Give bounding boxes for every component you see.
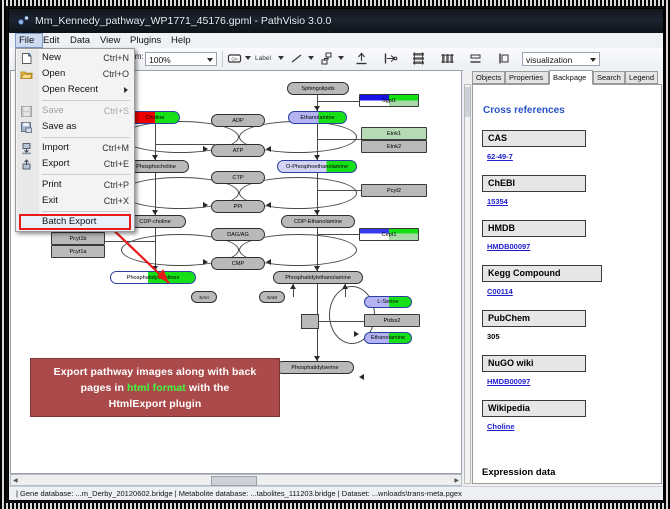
arrow-icon <box>359 374 364 380</box>
callout-line-2: pages in html format with the <box>31 380 279 396</box>
menu-data[interactable]: Data <box>67 34 93 47</box>
zoom-value: 100% <box>149 55 171 65</box>
node-atp[interactable]: ATP <box>211 144 265 157</box>
import-icon <box>20 142 33 155</box>
chevron-down-icon <box>207 58 213 62</box>
menu-item-save-accel: Ctrl+S <box>104 103 129 119</box>
node-cept1[interactable]: Cept1 <box>359 228 419 241</box>
menu-item-export-accel: Ctrl+E <box>104 156 129 172</box>
menu-item-new-label: New <box>42 52 61 63</box>
same-height-tool-icon[interactable] <box>497 51 512 66</box>
menu-separator <box>42 211 130 212</box>
panel-scrollbar[interactable] <box>464 84 471 484</box>
scroll-left-icon[interactable]: ◀ <box>13 477 18 484</box>
chevron-right-icon <box>124 87 128 93</box>
arrow-icon <box>203 202 208 208</box>
arrow-icon <box>266 202 271 208</box>
interaction-tool-icon[interactable] <box>319 51 334 66</box>
menu-item-exit[interactable]: Exit Ctrl+X <box>16 193 134 209</box>
node-sgpl1[interactable]: Sgpl1 <box>359 94 419 107</box>
value-wikipedia[interactable]: Choline <box>487 422 515 431</box>
edge <box>317 101 361 102</box>
status-text: | Gene database: ...m_Derby_20120602.bri… <box>16 488 462 500</box>
menu-file[interactable]: File <box>15 33 43 48</box>
menu-item-save-as[interactable]: Save as <box>16 119 134 135</box>
menu-view[interactable]: View <box>97 34 123 47</box>
side-panel: Objects Properties Backpage Search Legen… <box>464 70 662 486</box>
arrow-icon <box>266 259 271 265</box>
label-tool-label[interactable]: Label <box>255 55 271 62</box>
status-bar: | Gene database: ...m_Derby_20120602.bri… <box>9 486 663 501</box>
node-cdp-ethanolamine[interactable]: CDP-Ethanolamine <box>281 215 355 228</box>
node-l-serine[interactable]: L-Serine <box>364 296 412 308</box>
chevron-down-icon[interactable] <box>338 56 344 60</box>
menu-plugins[interactable]: Plugins <box>127 34 164 47</box>
callout-line-2a: pages in <box>81 382 127 394</box>
value-nugo-wiki[interactable]: HMDB00097 <box>487 377 530 386</box>
menu-item-export[interactable]: Export Ctrl+E <box>16 156 134 172</box>
menu-edit[interactable]: Edit <box>40 34 62 47</box>
menu-item-print-label: Print <box>42 179 62 190</box>
tab-search[interactable]: Search <box>593 71 625 84</box>
annotation-callout: Export pathway images along with back pa… <box>30 358 280 417</box>
node-ethanolamine-top[interactable]: Ethanolamine <box>288 111 347 124</box>
arrow-icon <box>342 284 348 289</box>
pathvisio-icon <box>17 14 30 27</box>
menu-separator <box>42 174 130 175</box>
callout-highlight: html format <box>127 382 186 394</box>
node-sah[interactable]: SAH <box>191 291 217 303</box>
callout-line-3: HtmlExport plugin <box>31 396 279 412</box>
arrow-icon <box>266 146 271 152</box>
section-nugo-wiki: NuGO wiki <box>482 355 586 372</box>
callout-line-2b: with the <box>186 382 229 394</box>
menu-item-open-label: Open <box>42 68 65 79</box>
menu-item-save: Save Ctrl+S <box>16 103 134 119</box>
menu-item-import-accel: Ctrl+M <box>102 140 129 156</box>
menu-item-batch-export-label: Batch Export <box>42 216 96 227</box>
line-tool-icon[interactable] <box>289 51 304 66</box>
menu-bar: File Edit Data View Plugins Help <box>9 33 663 49</box>
arrow-icon <box>203 259 208 265</box>
menu-item-new[interactable]: New Ctrl+N <box>16 50 134 66</box>
save-disk-icon <box>20 105 33 118</box>
node-adp[interactable]: ADP <box>211 114 265 127</box>
section-hmdb: HMDB <box>482 220 586 237</box>
node-ethanolamine-bottom[interactable]: Ethanolamine <box>364 332 412 344</box>
node-cmp[interactable]: CMP <box>211 257 265 270</box>
toolbar-separator <box>222 51 223 67</box>
node-ptdss2[interactable]: Ptdss2 <box>364 314 420 327</box>
chevron-down-icon[interactable] <box>245 56 251 60</box>
node-ppi[interactable]: PPi <box>211 200 265 213</box>
value-kegg-compound[interactable]: C00114 <box>487 287 513 296</box>
zoom-combo[interactable]: 100% <box>145 52 217 66</box>
node-ctp[interactable]: CTP <box>211 171 265 184</box>
file-menu-dropdown[interactable]: New Ctrl+N Open Ctrl+O Open Recent Save <box>15 48 135 232</box>
node-choline-top[interactable]: Choline <box>130 111 180 124</box>
scroll-thumb[interactable] <box>211 476 257 486</box>
chevron-down-icon[interactable] <box>278 56 284 60</box>
node-etnk2[interactable]: Etnk2 <box>361 140 427 153</box>
section-cas: CAS <box>482 130 586 147</box>
same-width-tool-icon[interactable] <box>468 51 483 66</box>
window-title: Mm_Kennedy_pathway_WP1771_45176.gpml - P… <box>35 13 331 29</box>
align-left-tool-icon[interactable] <box>383 51 398 66</box>
menu-item-import-label: Import <box>42 142 69 153</box>
node-sam[interactable]: SAM <box>259 291 285 303</box>
menu-item-save-as-label: Save as <box>42 121 76 132</box>
distribute-horizontal-tool-icon[interactable] <box>440 51 455 66</box>
svg-text:Gn: Gn <box>231 56 238 61</box>
arrow-icon <box>290 284 296 289</box>
value-chebi[interactable]: 15354 <box>487 197 508 206</box>
section-pubchem: PubChem <box>482 310 586 327</box>
value-cas[interactable]: 62-49-7 <box>487 152 513 161</box>
arrow-icon <box>203 146 208 152</box>
canvas-horizontal-scrollbar[interactable]: ◀ ▶ <box>10 474 462 486</box>
section-chebi: ChEBI <box>482 175 586 192</box>
menu-item-exit-label: Exit <box>42 195 58 206</box>
anchor-block <box>301 314 319 329</box>
menu-item-exit-accel: Ctrl+X <box>104 193 129 209</box>
open-folder-icon <box>20 68 33 81</box>
node-sphingolipids[interactable]: Sphingolipids <box>287 82 349 95</box>
node-etnk1[interactable]: Etnk1 <box>361 127 427 140</box>
menu-item-open-accel: Ctrl+O <box>103 66 129 82</box>
menu-item-open-recent[interactable]: Open Recent <box>16 82 134 98</box>
backpage-content: Cross references CAS 62-49-7 ChEBI 15354… <box>472 84 662 484</box>
menu-item-batch-export[interactable]: Batch Export <box>16 214 134 230</box>
screenshot-root: Mm_Kennedy_pathway_WP1771_45176.gpml - P… <box>0 0 670 509</box>
scroll-right-icon[interactable]: ▶ <box>454 477 459 484</box>
node-phosphatidylserine[interactable]: Phosphatidylserine <box>276 361 354 374</box>
value-pubchem: 305 <box>487 332 500 341</box>
menu-help[interactable]: Help <box>168 34 194 47</box>
menu-item-new-accel: Ctrl+N <box>103 50 129 66</box>
tab-objects[interactable]: Objects <box>472 71 505 84</box>
panel-tab-strip: Objects Properties Backpage Search Legen… <box>472 70 662 84</box>
arrow-icon <box>354 331 359 337</box>
node-dag-ag[interactable]: DAG/AG <box>211 228 265 241</box>
tab-legend[interactable]: Legend <box>625 71 658 84</box>
save-as-icon <box>20 121 33 134</box>
chevron-down-icon[interactable] <box>308 56 314 60</box>
menu-item-open-recent-label: Open Recent <box>42 84 98 95</box>
menu-item-print-accel: Ctrl+P <box>104 177 129 193</box>
menu-item-import[interactable]: Import Ctrl+M <box>16 140 134 156</box>
chevron-down-icon <box>590 58 596 62</box>
cross-references-heading: Cross references <box>483 105 565 116</box>
callout-line-1: Export pathway images along with back <box>31 364 279 380</box>
tab-backpage[interactable]: Backpage <box>549 70 593 85</box>
export-icon <box>20 158 33 171</box>
title-bar: Mm_Kennedy_pathway_WP1771_45176.gpml - P… <box>9 9 663 34</box>
visualization-value: visualization <box>526 55 572 65</box>
node-o-phosphoethanolamine[interactable]: O-Phosphoethanolamine <box>277 160 357 173</box>
menu-separator <box>42 100 130 101</box>
value-hmdb[interactable]: HMDB00097 <box>487 242 530 251</box>
distribute-vertical-tool-icon[interactable] <box>411 51 426 66</box>
section-kegg-compound: Kegg Compound <box>482 265 602 282</box>
node-phosphatidylethanolamine[interactable]: Phosphatidylethanolamine <box>273 271 363 284</box>
new-document-icon <box>20 52 33 65</box>
datanode-tool-icon[interactable]: Gn <box>227 51 242 66</box>
menu-item-save-label: Save <box>42 105 64 116</box>
application-window: Mm_Kennedy_pathway_WP1771_45176.gpml - P… <box>8 8 664 501</box>
node-pcyt2[interactable]: Pcyt2 <box>361 184 427 197</box>
tab-properties[interactable]: Properties <box>505 71 549 84</box>
menu-item-export-label: Export <box>42 158 69 169</box>
menu-item-open[interactable]: Open Ctrl+O <box>16 66 134 82</box>
menu-separator <box>42 137 130 138</box>
visualization-combo[interactable]: visualization <box>522 52 600 66</box>
expression-data-heading: Expression data <box>482 467 555 478</box>
align-top-tool-icon[interactable] <box>354 51 369 66</box>
menu-item-print[interactable]: Print Ctrl+P <box>16 177 134 193</box>
scroll-thumb[interactable] <box>465 87 470 117</box>
section-wikipedia: Wikipedia <box>482 400 586 417</box>
